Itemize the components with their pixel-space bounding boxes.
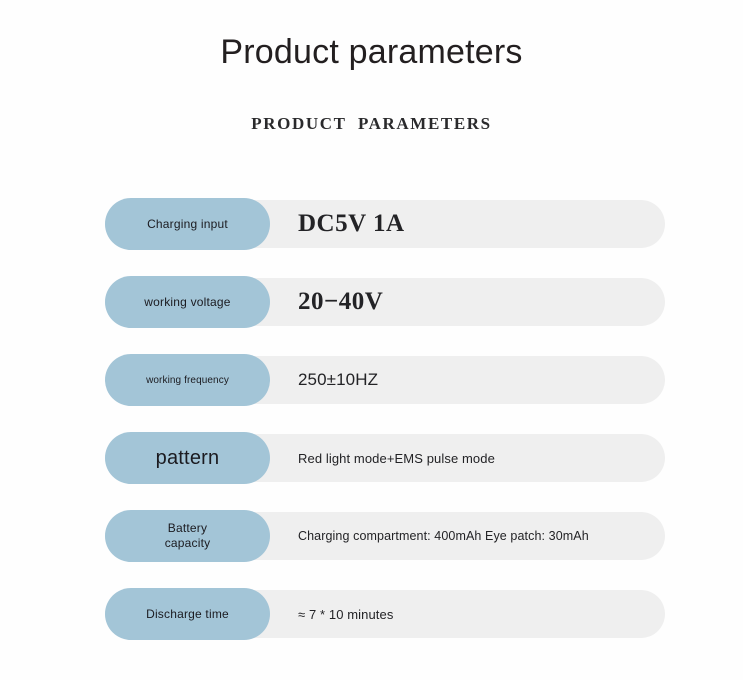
spec-value: DC5V 1A: [298, 198, 405, 250]
spec-row: Battery capacityCharging compartment: 40…: [105, 510, 665, 562]
spec-value: 20−40V: [298, 276, 383, 328]
spec-value: ≈ 7 * 10 minutes: [298, 588, 393, 640]
spec-value: Charging compartment: 400mAh Eye patch: …: [298, 510, 589, 562]
spec-row: Discharge time≈ 7 * 10 minutes: [105, 588, 665, 640]
product-parameters-page: Product parameters PRODUCT PARAMETERS Ch…: [0, 0, 743, 680]
page-subtitle: PRODUCT PARAMETERS: [0, 113, 743, 135]
spec-value: 250±10HZ: [298, 354, 378, 406]
specification-list: Charging inputDC5V 1Aworking voltage20−4…: [0, 198, 743, 640]
spec-row: patternRed light mode+EMS pulse mode: [105, 432, 665, 484]
spec-label: working voltage: [105, 276, 270, 328]
spec-label: Discharge time: [105, 588, 270, 640]
spec-label: pattern: [105, 432, 270, 484]
spec-value: Red light mode+EMS pulse mode: [298, 432, 495, 484]
page-title: Product parameters: [0, 30, 743, 74]
spec-row: working frequency250±10HZ: [105, 354, 665, 406]
spec-row: Charging inputDC5V 1A: [105, 198, 665, 250]
spec-label: Charging input: [105, 198, 270, 250]
spec-row: working voltage20−40V: [105, 276, 665, 328]
spec-label: Battery capacity: [105, 510, 270, 562]
spec-label: working frequency: [105, 354, 270, 406]
